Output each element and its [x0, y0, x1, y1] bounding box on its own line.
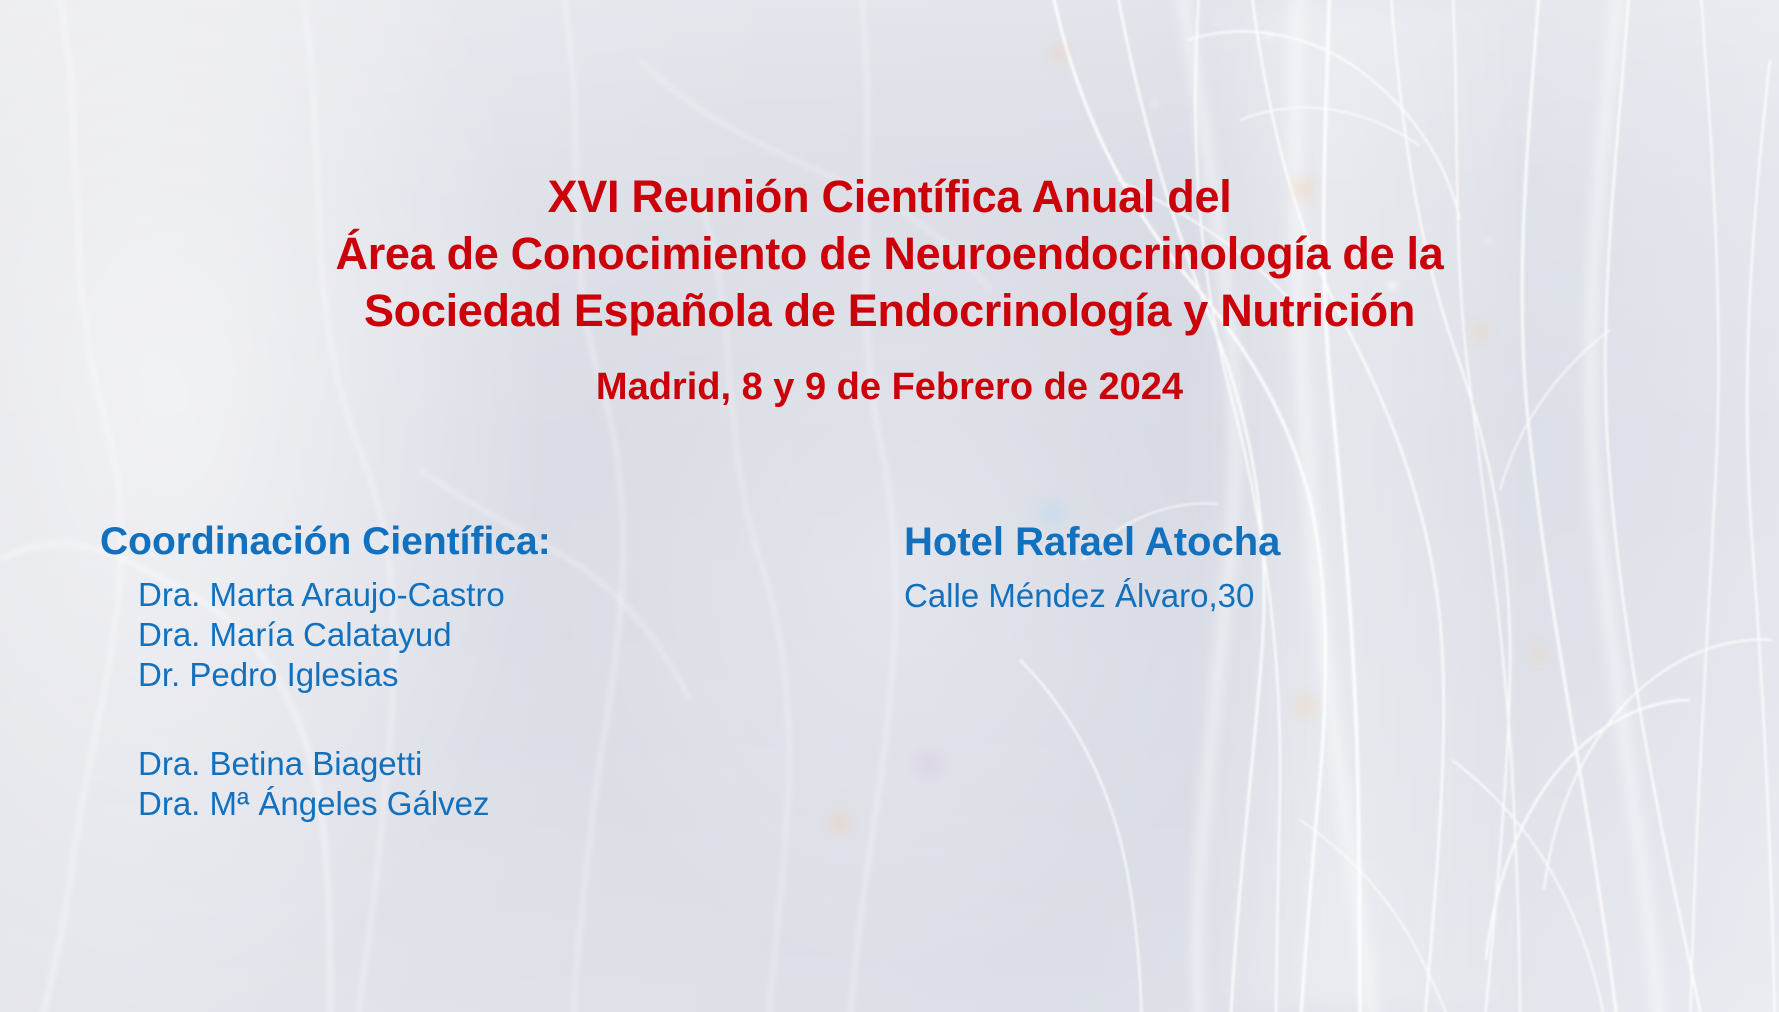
venue-address-list: Calle Méndez Álvaro,30 — [896, 576, 1596, 616]
scientific-coordination-heading: Coordinación Científica: — [100, 518, 740, 566]
event-title-line-3: Sociedad Española de Endocrinología y Nu… — [0, 282, 1779, 339]
venue-block: Hotel Rafael Atocha Calle Méndez Álvaro,… — [896, 518, 1596, 616]
venue-name: Hotel Rafael Atocha — [896, 518, 1596, 566]
coordinator-list-secondary: Dra. Betina Biagetti Dra. Mª Ángeles Gál… — [100, 744, 740, 824]
coordinator-name: Dra. Marta Araujo-Castro — [138, 575, 740, 615]
list-spacer — [100, 695, 740, 735]
event-title-line-1: XVI Reunión Científica Anual del — [0, 168, 1779, 225]
coordinator-name: Dra. Mª Ángeles Gálvez — [138, 784, 740, 824]
slide-content: XVI Reunión Científica Anual del Área de… — [0, 0, 1779, 1012]
coordinator-list-primary: Dra. Marta Araujo-Castro Dra. María Cala… — [100, 575, 740, 695]
event-title: XVI Reunión Científica Anual del Área de… — [0, 168, 1779, 339]
coordinator-name: Dra. María Calatayud — [138, 615, 740, 655]
event-date-location: Madrid, 8 y 9 de Febrero de 2024 — [0, 362, 1779, 412]
coordinator-name: Dr. Pedro Iglesias — [138, 655, 740, 695]
conference-title-slide: XVI Reunión Científica Anual del Área de… — [0, 0, 1779, 1012]
venue-address: Calle Méndez Álvaro,30 — [904, 576, 1596, 616]
coordinator-name: Dra. Betina Biagetti — [138, 744, 740, 784]
scientific-coordination-block: Coordinación Científica: Dra. Marta Arau… — [100, 518, 740, 824]
event-title-line-2: Área de Conocimiento de Neuroendocrinolo… — [0, 225, 1779, 282]
